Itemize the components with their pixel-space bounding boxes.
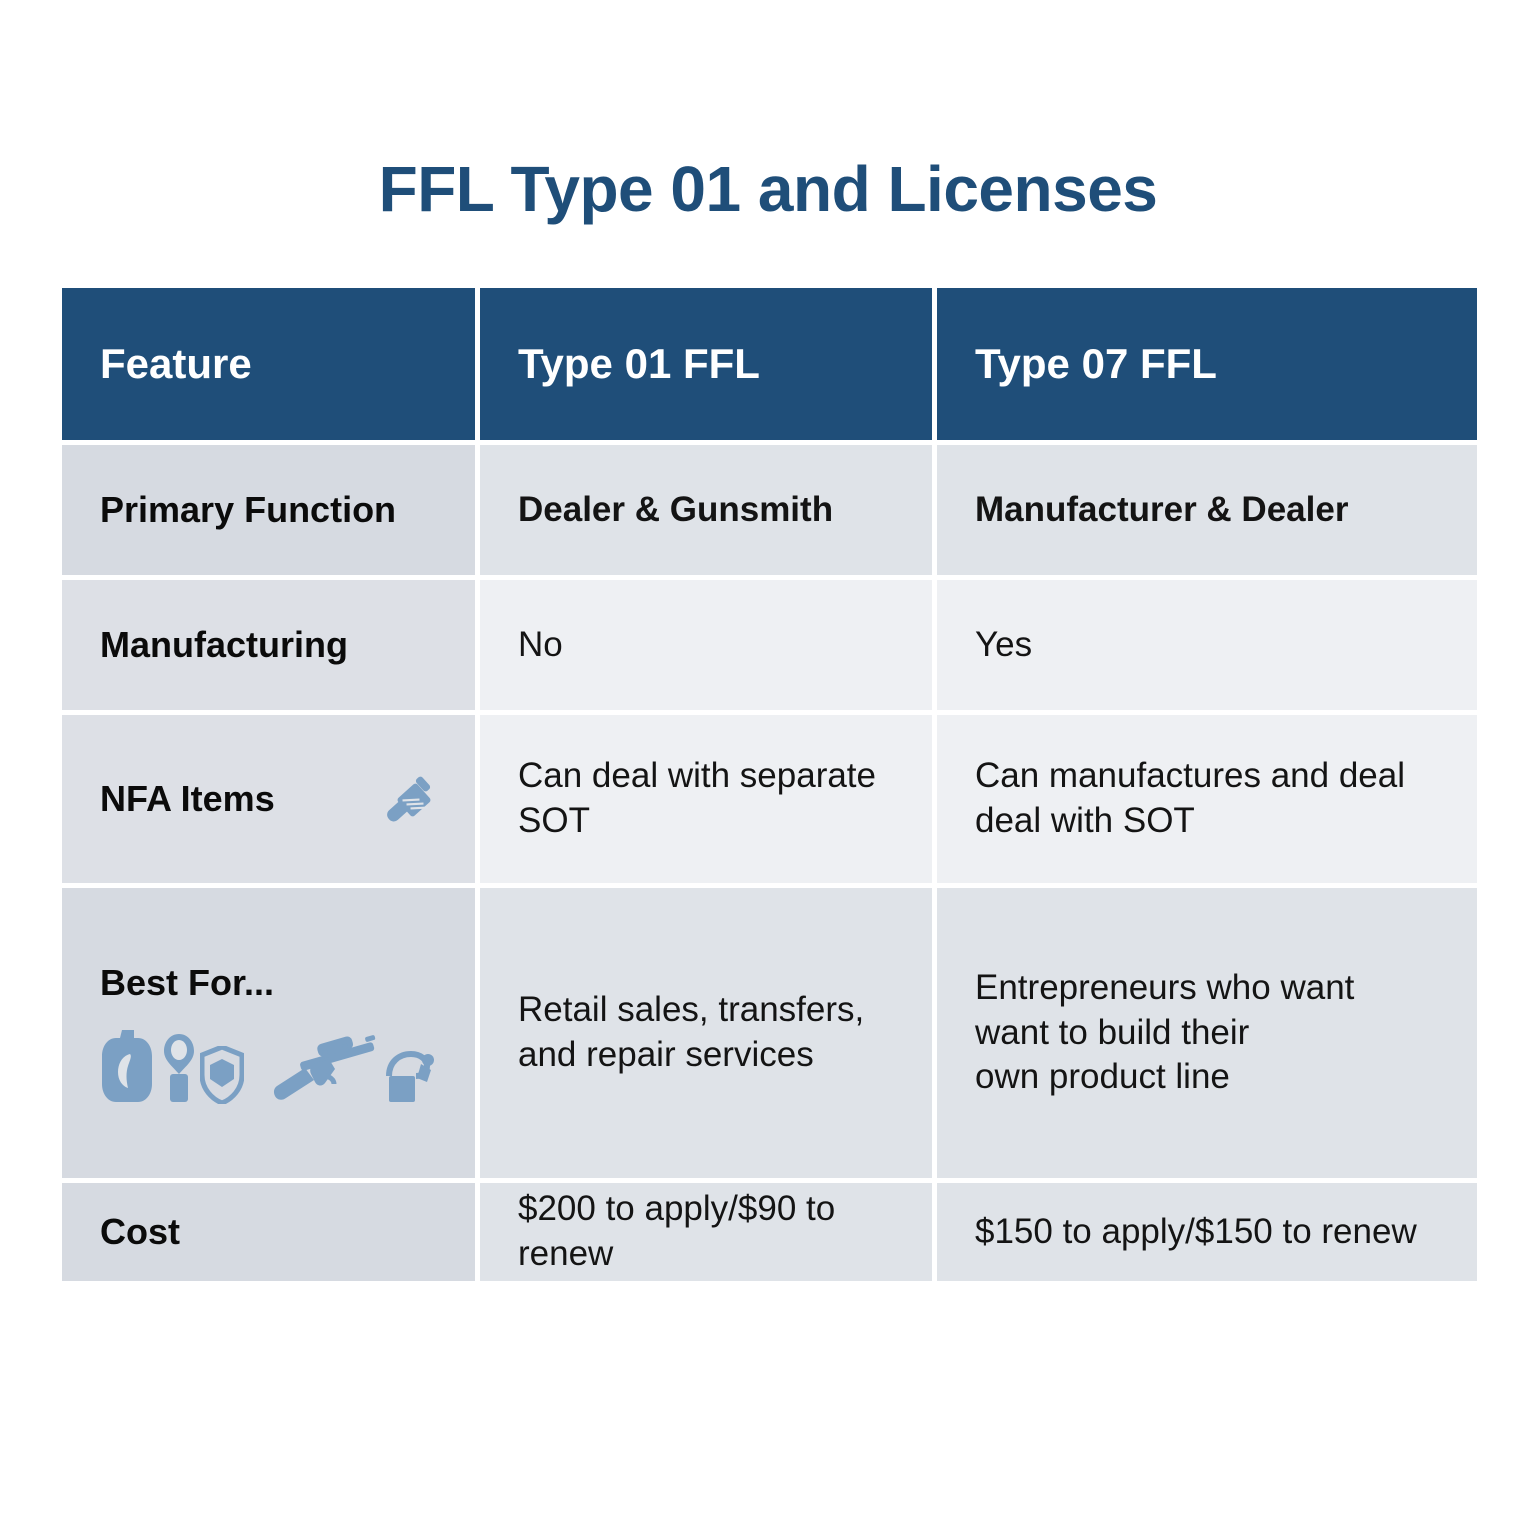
value-text-line: Can deal with separate — [518, 754, 894, 799]
table-header-row: Feature Type 01 FFL Type 07 FFL — [62, 288, 1472, 440]
pistol-icon — [100, 1028, 156, 1104]
row-type01-cell: No — [480, 580, 932, 710]
table-row: NFA Items — [62, 715, 1472, 883]
header-label-type07: Type 07 FFL — [975, 341, 1439, 387]
header-label-type01: Type 01 FFL — [518, 341, 894, 387]
header-label-feature: Feature — [100, 341, 437, 387]
value-text: No — [518, 623, 894, 668]
header-cell-type07: Type 07 FFL — [937, 288, 1477, 440]
row-type07-cell: $150 to apply/$150 to renew — [937, 1183, 1477, 1281]
gunsmith-icon-group — [269, 1028, 437, 1104]
retail-icon-group — [100, 1028, 244, 1104]
value-text-line: Entrepreneurs who want — [975, 966, 1439, 1011]
icon-row — [100, 1028, 447, 1104]
feature-with-icons: Best For... — [100, 888, 437, 1178]
row-feature-cell: Cost — [62, 1183, 475, 1281]
table-row: Cost $200 to apply/$90 to renew $150 to … — [62, 1183, 1472, 1281]
row-type07-cell: Manufacturer & Dealer — [937, 445, 1477, 575]
row-feature-cell: Manufacturing — [62, 580, 475, 710]
value-text-line: Can manufactures and deal — [975, 754, 1439, 799]
row-type07-cell: Entrepreneurs who want want to build the… — [937, 888, 1477, 1178]
row-type01-cell: Can deal with separate SOT — [480, 715, 932, 883]
row-type01-cell: Retail sales, transfers, and repair serv… — [480, 888, 932, 1178]
feature-label: Best For... — [100, 962, 437, 1003]
row-feature-cell: Primary Function — [62, 445, 475, 575]
value-text: Manufacturer & Dealer — [975, 488, 1439, 533]
table-row: Best For... — [62, 888, 1472, 1178]
header-cell-type01: Type 01 FFL — [480, 288, 932, 440]
value-text: $150 to apply/$150 to renew — [975, 1210, 1439, 1255]
page-title: FFL Type 01 and Licenses — [0, 152, 1536, 226]
value-text-line: own product line — [975, 1055, 1439, 1100]
comparison-table: Feature Type 01 FFL Type 07 FFL Primary … — [62, 288, 1472, 1281]
value-text-line: and repair services — [518, 1033, 894, 1078]
feature-with-icon: NFA Items — [100, 768, 437, 830]
feature-label: Primary Function — [100, 489, 437, 530]
infographic-page: FFL Type 01 and Licenses Feature Type 01… — [0, 0, 1536, 1536]
value-text: Yes — [975, 623, 1439, 668]
row-type07-cell: Can manufactures and deal deal with SOT — [937, 715, 1477, 883]
suppressor-icon — [375, 768, 437, 830]
value-text-line: SOT — [518, 799, 894, 844]
row-feature-cell: NFA Items — [62, 715, 475, 883]
scoped-rifle-icon — [269, 1028, 379, 1104]
feature-label: NFA Items — [100, 778, 275, 819]
header-cell-feature: Feature — [62, 288, 475, 440]
value-text-line: want to build their — [975, 1011, 1439, 1056]
value-text-line: deal with SOT — [975, 799, 1439, 844]
magnifier-icon — [156, 1032, 196, 1104]
row-type01-cell: Dealer & Gunsmith — [480, 445, 932, 575]
feature-label: Manufacturing — [100, 624, 437, 665]
feature-label: Cost — [100, 1211, 437, 1252]
shield-icon — [196, 1046, 244, 1104]
table-row: Primary Function Dealer & Gunsmith Manuf… — [62, 445, 1472, 575]
table-row: Manufacturing No Yes — [62, 580, 1472, 710]
gunsmith-tool-icon — [379, 1046, 437, 1104]
row-type01-cell: $200 to apply/$90 to renew — [480, 1183, 932, 1281]
row-type07-cell: Yes — [937, 580, 1477, 710]
value-text: $200 to apply/$90 to renew — [518, 1187, 894, 1277]
row-feature-cell: Best For... — [62, 888, 475, 1178]
value-text-line: Retail sales, transfers, — [518, 988, 894, 1033]
value-text: Dealer & Gunsmith — [518, 488, 894, 533]
